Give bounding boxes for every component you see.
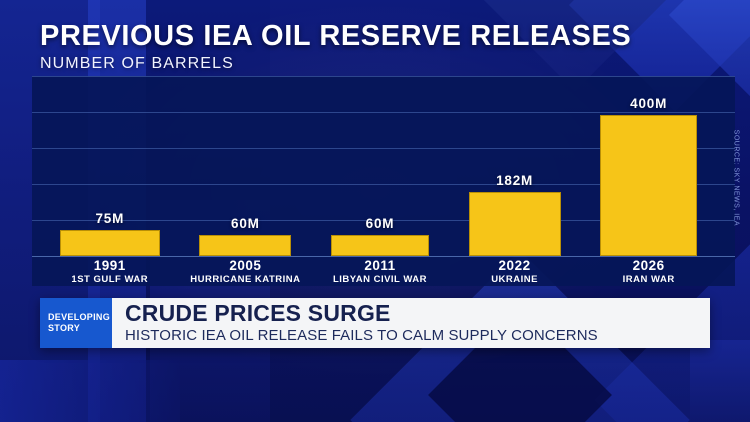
chart-plot-area: 75M 60M 60M 182M 400M (32, 76, 735, 256)
x-axis-event: 1ST GULF WAR (71, 274, 148, 285)
page-subtitle: NUMBER OF BARRELS (40, 55, 631, 73)
bar-value-label: 60M (231, 216, 260, 231)
bar-series: 75M 60M 60M 182M 400M (40, 76, 717, 256)
x-axis-tick: 1991 1ST GULF WAR (60, 256, 160, 286)
title-block: PREVIOUS IEA OIL RESERVE RELEASES NUMBER… (40, 22, 631, 73)
x-axis-year: 1991 (94, 258, 126, 273)
bar[interactable] (199, 235, 291, 256)
bar-column: 182M (469, 76, 561, 256)
source-credit: SOURCE: SKY NEWS, IEA (732, 130, 739, 226)
bar-value-label: 400M (630, 96, 667, 111)
bar-value-label: 75M (95, 211, 124, 226)
x-axis-event: UKRAINE (491, 274, 538, 285)
banner-text-area: CRUDE PRICES SURGE HISTORIC IEA OIL RELE… (112, 298, 710, 348)
bar-value-label: 182M (496, 173, 533, 188)
banner-headline: CRUDE PRICES SURGE (125, 302, 710, 326)
x-axis-year: 2005 (229, 258, 261, 273)
badge-line-1: DEVELOPING (48, 312, 112, 323)
bar-column: 60M (199, 76, 291, 256)
x-axis-event: HURRICANE KATRINA (190, 274, 300, 285)
bar[interactable] (331, 235, 429, 256)
badge-line-2: STORY (48, 323, 112, 334)
x-axis-labels: 1991 1ST GULF WAR 2005 HURRICANE KATRINA… (40, 256, 717, 286)
banner-subheadline: HISTORIC IEA OIL RELEASE FAILS TO CALM S… (125, 328, 710, 345)
x-axis-tick: 2022 UKRAINE (469, 256, 561, 286)
x-axis-year: 2011 (364, 258, 395, 273)
x-axis-year: 2022 (499, 258, 531, 273)
page-title: PREVIOUS IEA OIL RESERVE RELEASES (40, 22, 631, 52)
x-axis-event: LIBYAN CIVIL WAR (333, 274, 427, 285)
bar-column: 400M (600, 76, 697, 256)
x-axis-year: 2026 (633, 258, 665, 273)
bar-column: 60M (331, 76, 429, 256)
bar[interactable] (60, 230, 160, 256)
bar[interactable] (469, 192, 561, 256)
lower-third-banner: DEVELOPING STORY CRUDE PRICES SURGE HIST… (40, 298, 710, 348)
bar-column: 75M (60, 76, 160, 256)
x-axis-event: IRAN WAR (623, 274, 675, 285)
x-axis-tick: 2005 HURRICANE KATRINA (199, 256, 291, 286)
developing-story-badge: DEVELOPING STORY (40, 298, 112, 348)
chart-panel: 75M 60M 60M 182M 400M (32, 76, 735, 286)
bar[interactable] (600, 115, 697, 256)
broadcast-graphic: PREVIOUS IEA OIL RESERVE RELEASES NUMBER… (0, 0, 750, 422)
bar-value-label: 60M (366, 216, 395, 231)
x-axis-tick: 2026 IRAN WAR (600, 256, 697, 286)
x-axis-tick: 2011 LIBYAN CIVIL WAR (331, 256, 429, 286)
